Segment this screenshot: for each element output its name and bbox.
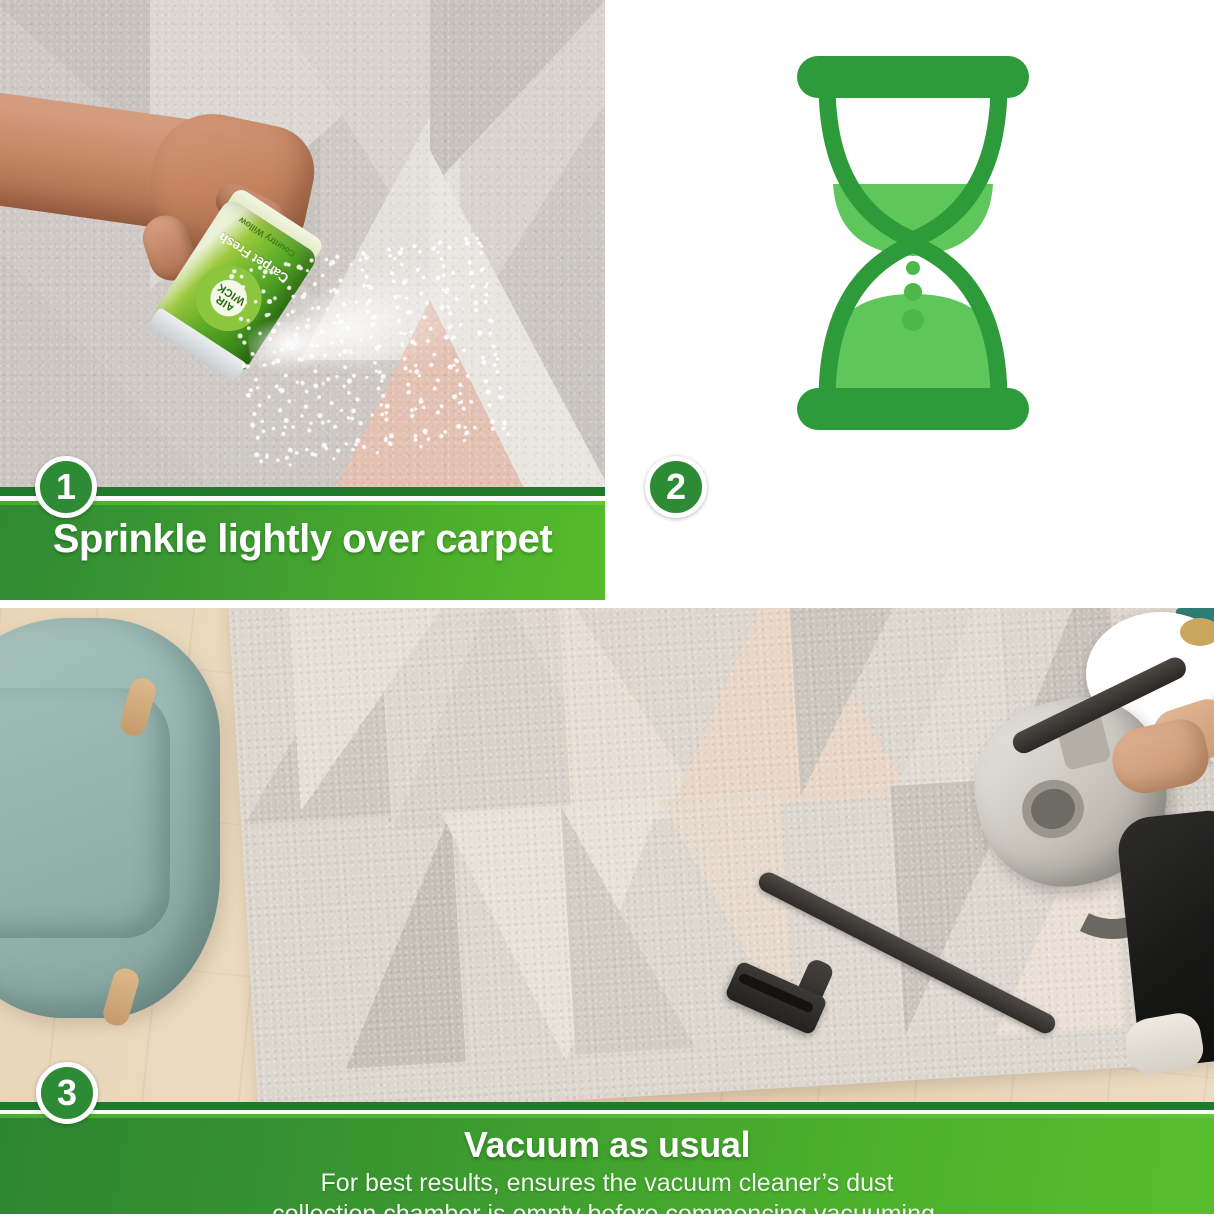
step-3-subcaption-line-2: collection chamber is empty before comme… (0, 1199, 1214, 1214)
rule-light (0, 1114, 1214, 1118)
step-3-subcaption-line-1: For best results, ensures the vacuum cle… (0, 1168, 1214, 1199)
table-accent-object (1180, 618, 1214, 646)
step-3-panel: Vacuum as usual For best results, ensure… (0, 600, 1214, 1214)
top-row: Country Willow Carpet Fresh AIR WICK (0, 0, 1214, 600)
step-3-photo-vacuuming (0, 608, 1214, 1102)
step-2-illustration (611, 0, 1214, 487)
step-badge-2: 2 (645, 456, 707, 518)
step-badge-1: 1 (35, 456, 97, 518)
step-3-caption-bar: Vacuum as usual For best results, ensure… (0, 1102, 1214, 1214)
step-3-caption: Vacuum as usual (0, 1124, 1214, 1166)
panel-gutter (605, 0, 611, 600)
step-3-subcaption: For best results, ensures the vacuum cle… (0, 1168, 1214, 1214)
rule-dark (0, 1102, 1214, 1110)
step-badge-3: 3 (36, 1062, 98, 1124)
step-1-caption: Sprinkle lightly over carpet (0, 517, 605, 562)
row-gutter (0, 600, 1214, 608)
infographic-root: Country Willow Carpet Fresh AIR WICK (0, 0, 1214, 1214)
step-2-panel: Wait for a few minutes (611, 0, 1214, 600)
hourglass-icon (763, 44, 1063, 444)
can-scent-line-2: Willow (237, 215, 266, 239)
powder-speckles (227, 229, 514, 473)
step-1-panel: Country Willow Carpet Fresh AIR WICK (0, 0, 605, 600)
step-1-photo-carpet-spray: Country Willow Carpet Fresh AIR WICK (0, 0, 605, 487)
